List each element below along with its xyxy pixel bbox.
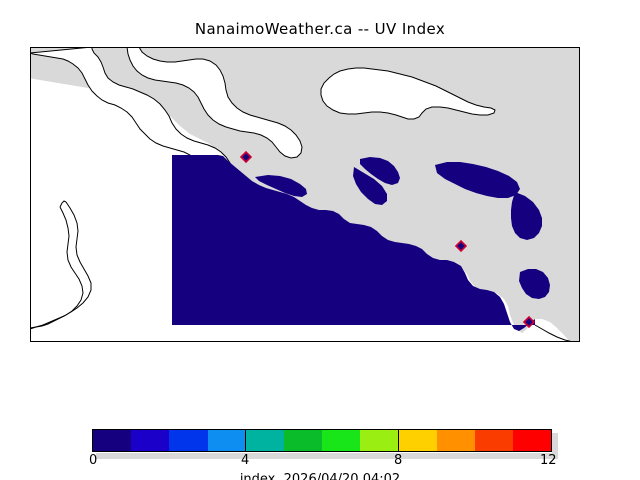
- colorbar-tick-8: [398, 429, 399, 452]
- colorbar-region: 0 4 8 12 index 2026/04/20 04:02: [0, 420, 640, 480]
- colorbar-segment-1: [131, 430, 169, 451]
- colorbar-segment-6: [322, 430, 360, 451]
- colorbar-segment-0: [93, 430, 131, 451]
- colorbar-label-4: 4: [241, 453, 249, 468]
- colorbar-segment-7: [360, 430, 398, 451]
- colorbar-segment-8: [398, 430, 436, 451]
- colorbar-segment-2: [169, 430, 207, 451]
- colorbar-shadow-bottom: [96, 453, 558, 459]
- colorbar-segment-4: [246, 430, 284, 451]
- map-canvas[interactable]: [30, 47, 580, 342]
- colorbar-caption: index 2026/04/20 04:02: [0, 472, 640, 480]
- colorbar-label-8: 8: [394, 453, 402, 468]
- colorbar-segment-3: [208, 430, 246, 451]
- page-title: NanaimoWeather.ca -- UV Index: [0, 20, 640, 38]
- colorbar-segment-11: [513, 430, 551, 451]
- colorbar-label-0: 0: [89, 453, 97, 468]
- colorbar-shadow-right: [552, 433, 558, 455]
- colorbar-segment-5: [284, 430, 322, 451]
- colorbar[interactable]: [92, 429, 552, 452]
- colorbar-tick-4: [245, 429, 246, 452]
- map-plot-area[interactable]: [30, 47, 580, 342]
- colorbar-label-12: 12: [540, 453, 557, 468]
- colorbar-segment-10: [475, 430, 513, 451]
- uv-index-map-page: NanaimoWeather.ca -- UV Index: [0, 0, 640, 480]
- colorbar-segment-9: [437, 430, 475, 451]
